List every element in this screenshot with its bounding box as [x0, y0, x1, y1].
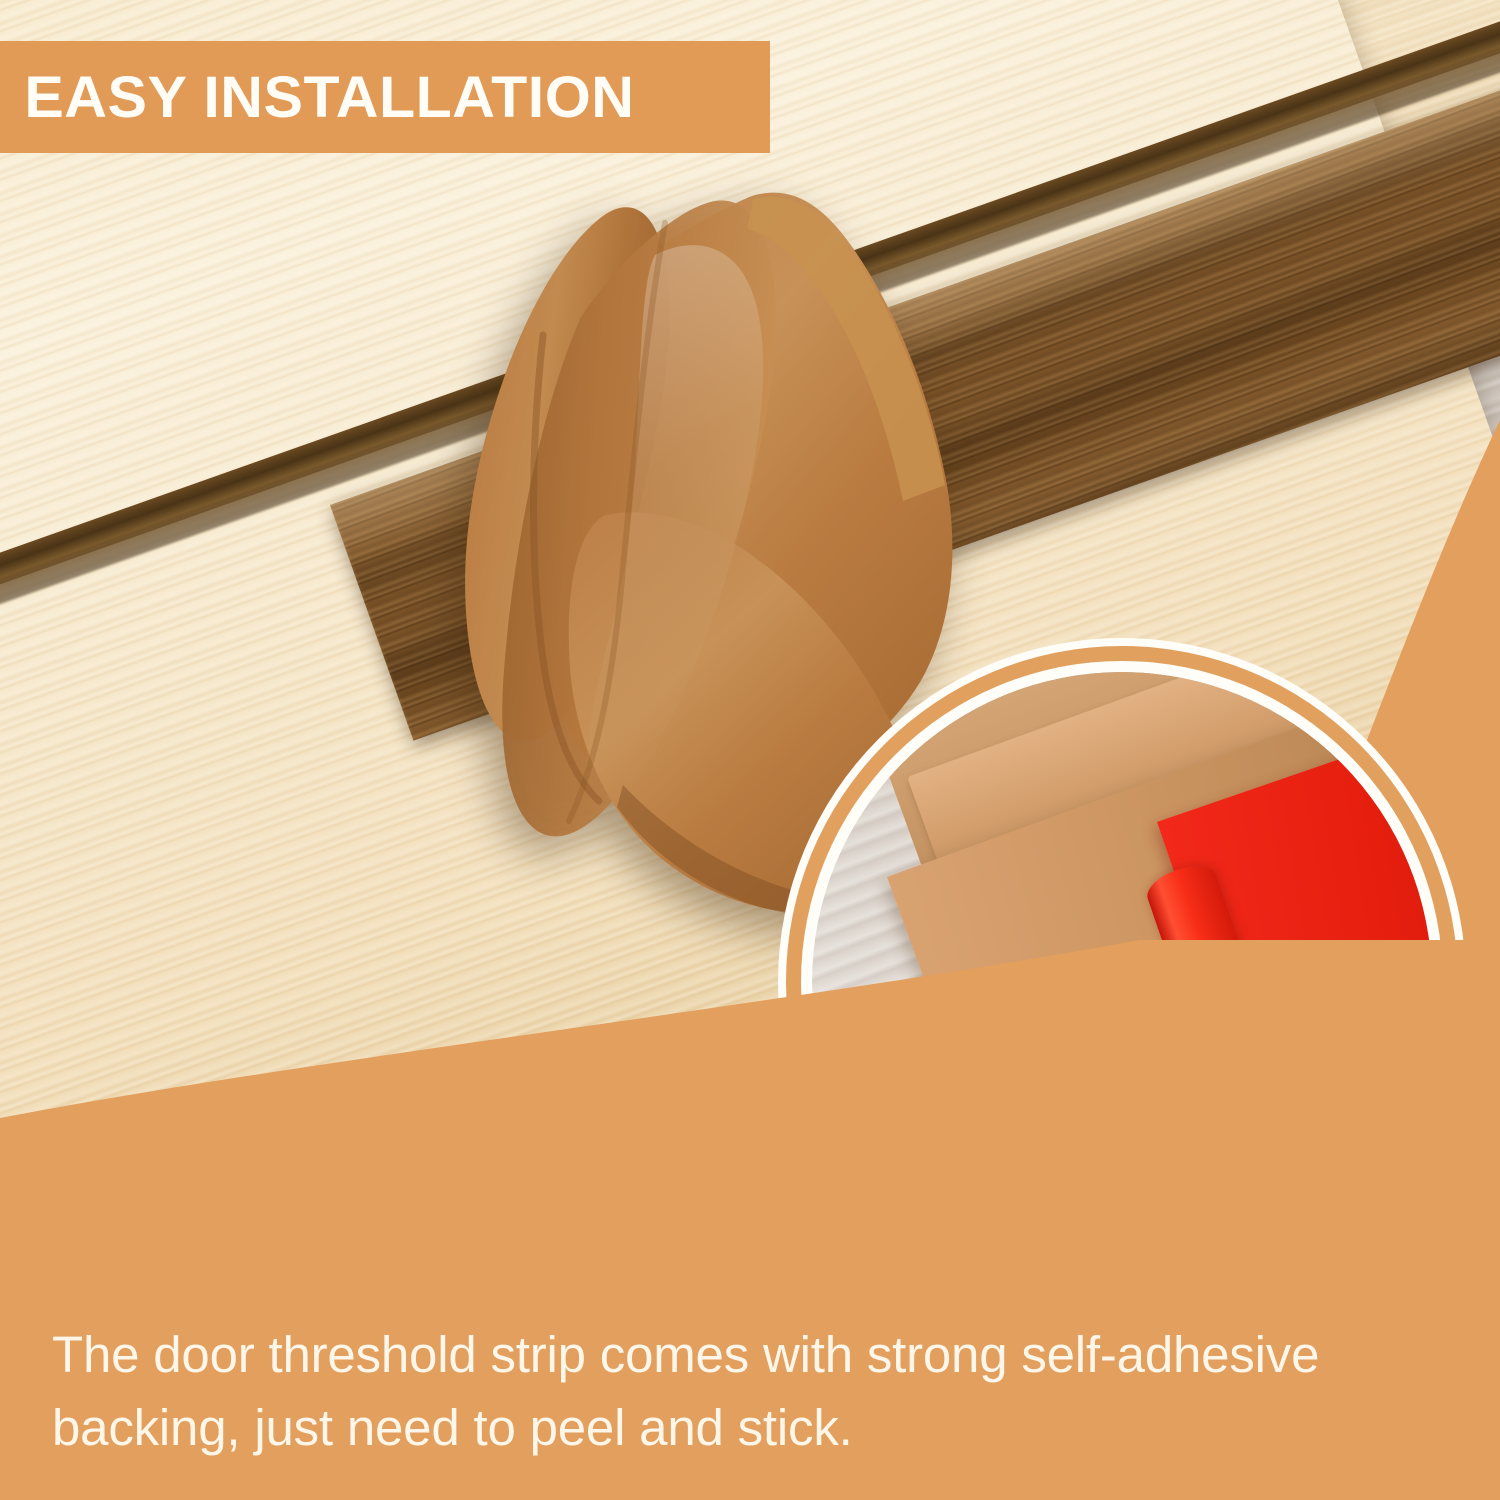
product-marketing-image: EASY INSTALLATION The door threshold str…	[0, 0, 1500, 1500]
caption-text: The door threshold strip comes with stro…	[52, 1319, 1452, 1464]
header-banner: EASY INSTALLATION	[0, 41, 770, 153]
page-title: EASY INSTALLATION	[0, 64, 634, 131]
